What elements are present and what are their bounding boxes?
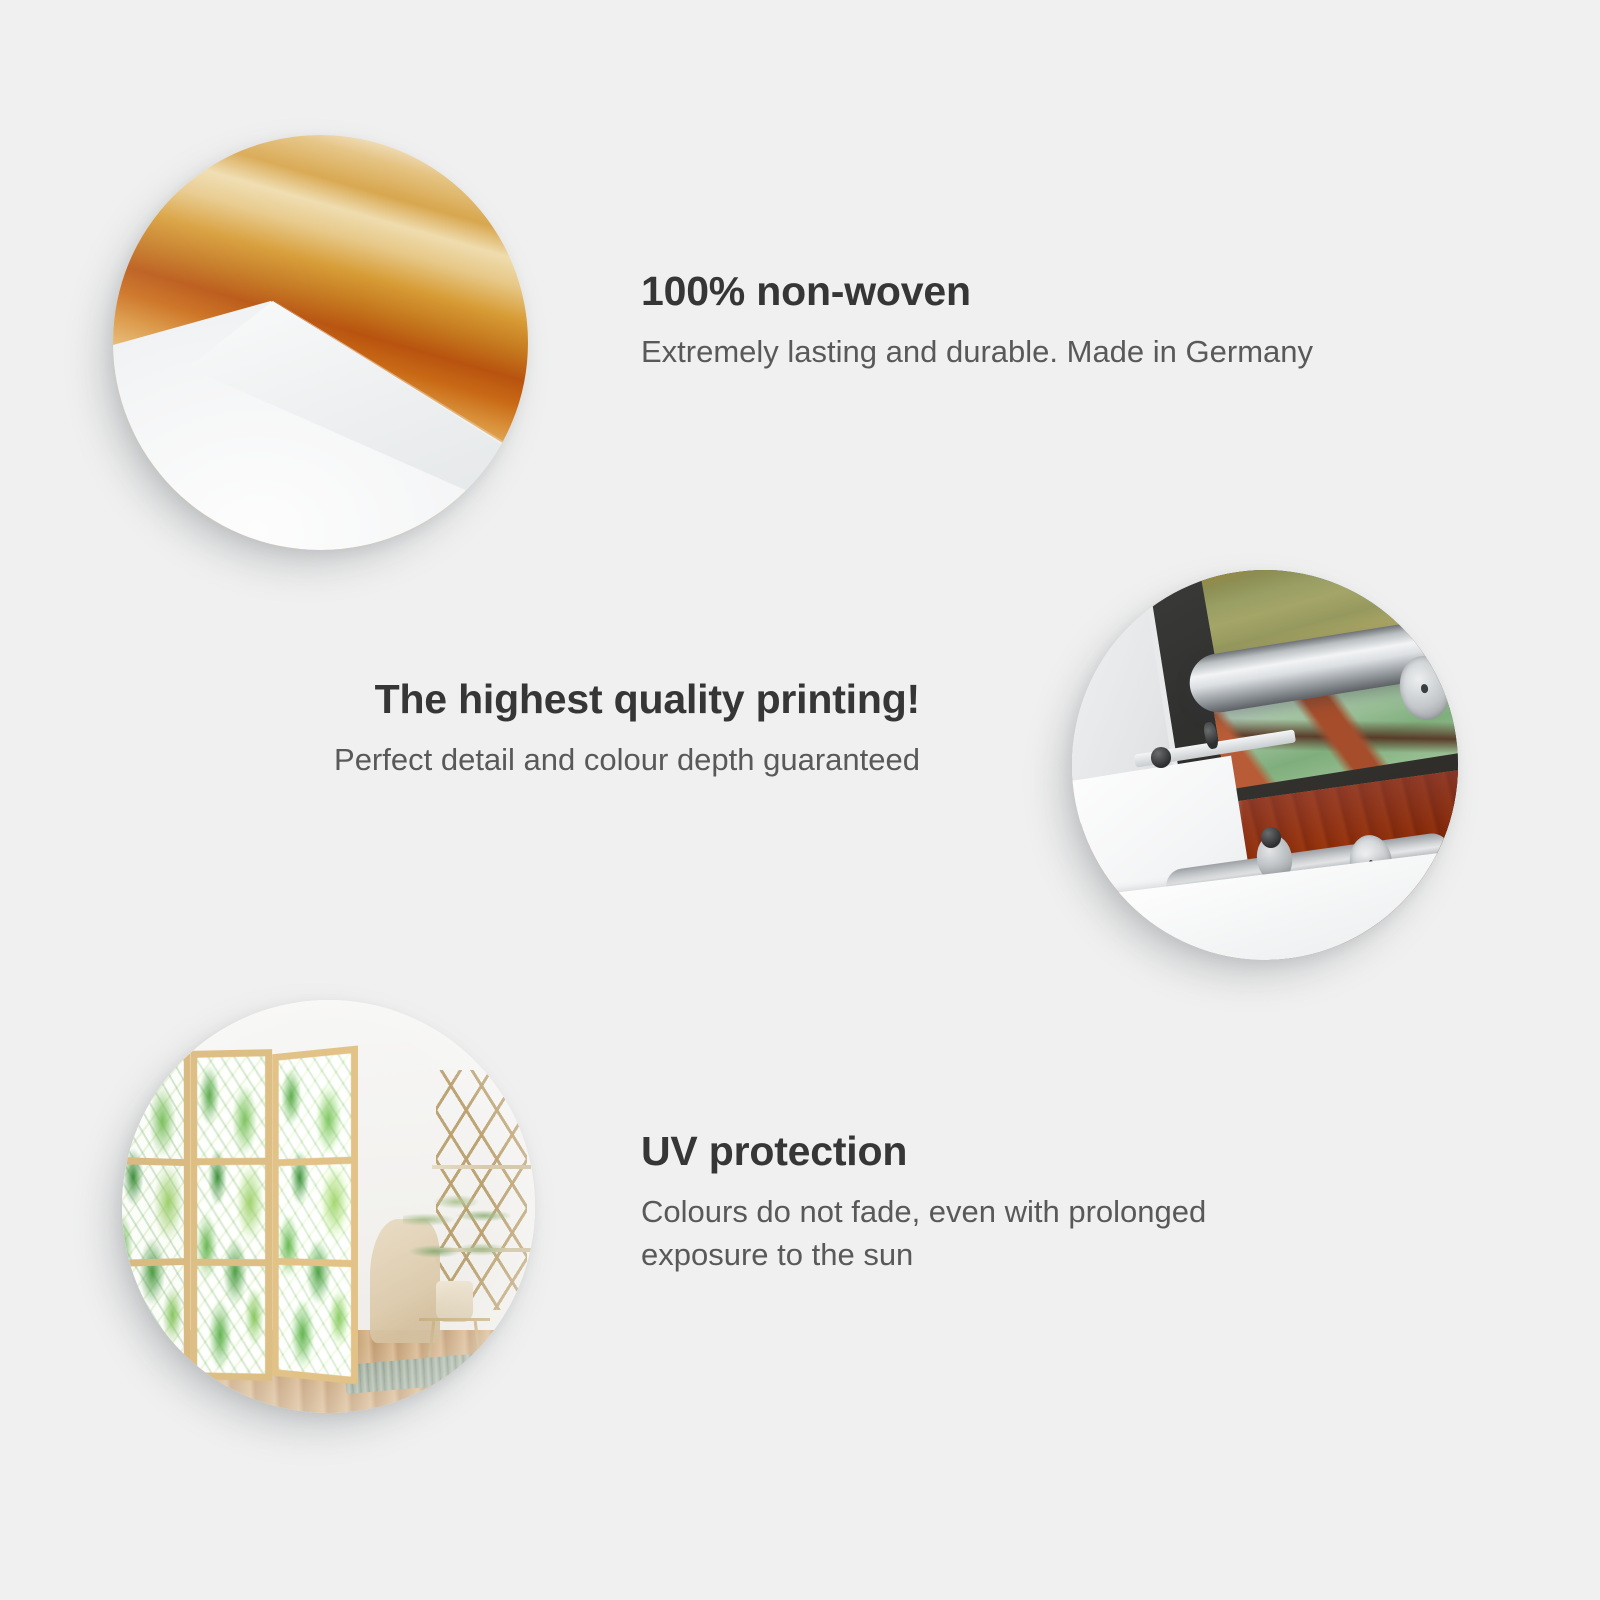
divider-rail (197, 1158, 265, 1165)
divider-panel-middle (190, 1049, 272, 1381)
divider-rail (197, 1259, 265, 1266)
uv-protection-description: Colours do not fade, even with prolonged… (641, 1191, 1261, 1277)
printing-press-illustration (1072, 570, 1458, 960)
non-woven-text-block: 100% non-woven Extremely lasting and dur… (641, 268, 1321, 374)
folding-room-divider (122, 1050, 370, 1380)
divider-rail (279, 1258, 351, 1267)
printing-image (1072, 570, 1458, 960)
divider-rail (279, 1156, 351, 1165)
non-woven-title: 100% non-woven (641, 268, 1321, 315)
printing-description: Perfect detail and colour depth guarante… (300, 739, 920, 782)
printing-title: The highest quality printing! (300, 676, 920, 723)
printing-text-block: The highest quality printing! Perfect de… (300, 676, 920, 782)
divider-panel-left (122, 1046, 190, 1384)
press-knob-upper (1151, 747, 1171, 767)
divider-panel-right (272, 1045, 358, 1384)
room-divider-illustration (122, 1000, 535, 1413)
wallpaper-peel-illustration (113, 135, 528, 550)
uv-protection-title: UV protection (641, 1128, 1261, 1175)
divider-rail (122, 1157, 183, 1166)
non-woven-image (113, 135, 528, 550)
divider-rail (122, 1258, 183, 1267)
uv-protection-image (122, 1000, 535, 1413)
uv-protection-text-block: UV protection Colours do not fade, even … (641, 1128, 1261, 1277)
press-knob-lower (1261, 827, 1281, 847)
non-woven-description: Extremely lasting and durable. Made in G… (641, 331, 1321, 374)
feature-collage: 100% non-woven Extremely lasting and dur… (0, 0, 1600, 1600)
